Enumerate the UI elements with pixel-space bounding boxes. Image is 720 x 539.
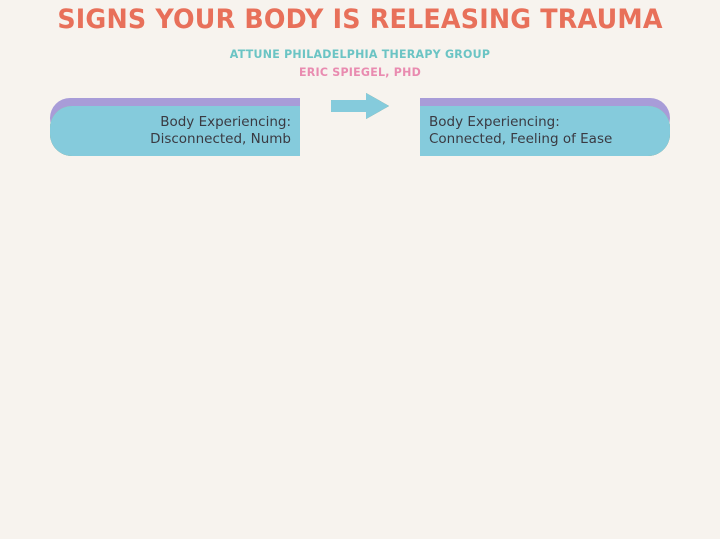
- author-subtitle: ERIC SPIEGEL, PHD: [14, 65, 705, 79]
- infographic-poster: SIGNS YOUR BODY IS RELEASING TRAUMA ATTU…: [0, 0, 720, 539]
- row-body-experiencing-released-line1: Body Experiencing:: [429, 114, 612, 131]
- row-body-experiencing-stored-line2: Disconnected, Numb: [150, 131, 291, 148]
- row-body-experiencing-released-text: Body Experiencing:Connected, Feeling of …: [429, 114, 612, 149]
- arrow-shaft: [331, 100, 367, 112]
- row-body-experiencing-stored-line1: Body Experiencing:: [150, 114, 291, 131]
- row-body-experiencing-released: Body Experiencing:Connected, Feeling of …: [420, 106, 670, 156]
- organization-subtitle: ATTUNE PHILADELPHIA THERAPY GROUP: [14, 47, 705, 61]
- arrow-head: [366, 93, 389, 119]
- poster-header: SIGNS YOUR BODY IS RELEASING TRAUMA ATTU…: [0, 0, 720, 79]
- page-title: SIGNS YOUR BODY IS RELEASING TRAUMA: [22, 6, 699, 34]
- row-body-experiencing-released-line2: Connected, Feeling of Ease: [429, 131, 612, 148]
- row-body-experiencing-stored-text: Body Experiencing:Disconnected, Numb: [150, 114, 291, 149]
- arrow-right-icon: [331, 93, 389, 119]
- row-body-experiencing-stored: Body Experiencing:Disconnected, Numb: [50, 106, 300, 156]
- comparison-board: TRAUMA STORED TRAUMA RELEASED Gut Muscle…: [50, 98, 670, 106]
